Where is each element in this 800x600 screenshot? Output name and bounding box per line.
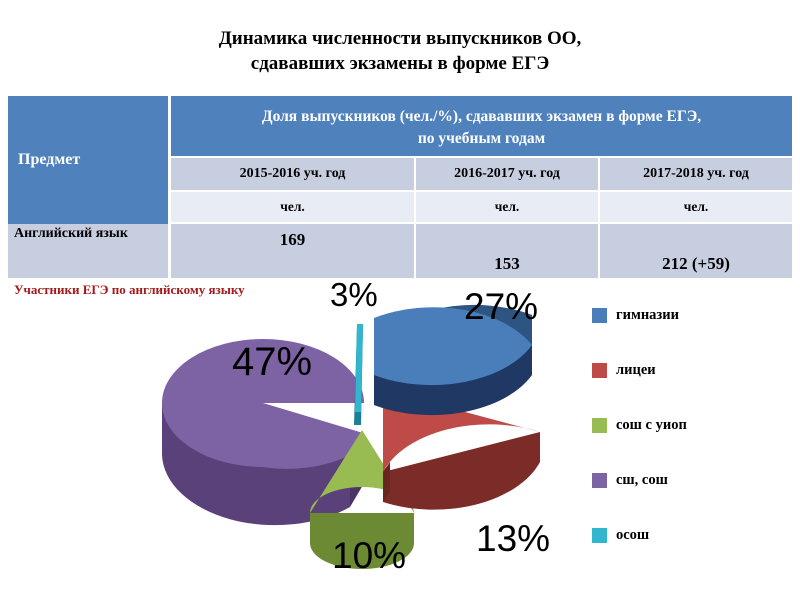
table-unit-cell-1: чел.	[171, 192, 414, 222]
pie-value-label-sh-sosh: 47%	[232, 342, 312, 382]
table-cell-value-2015-2016: 169	[171, 224, 414, 278]
legend-item-licei[interactable]: лицеи	[592, 343, 792, 398]
legend-label-sh-sosh: сш, сош	[616, 472, 668, 489]
slide-title: Динамика численности выпускников ОО, сда…	[0, 26, 800, 76]
pie-value-label-ososh: 3%	[330, 278, 378, 311]
legend-item-gimnazii[interactable]: гимназии	[592, 288, 792, 343]
exam-statistics-table: Предмет Доля выпускников (чел./%), сдава…	[8, 96, 792, 278]
legend-label-sosh-s-uiop: сош с уиоп	[616, 417, 687, 434]
slide-title-line-1: Динамика численности выпускников ОО,	[219, 28, 582, 49]
table-header-year-2016-2017: 2016-2017 уч. год	[416, 158, 598, 190]
legend-item-sh-sosh[interactable]: сш, сош	[592, 453, 792, 508]
table-cell-value-2017-2018: 212 (+59)	[600, 224, 792, 278]
table-header-year-2017-2018: 2017-2018 уч. год	[600, 158, 792, 190]
legend-swatch-sosh-s-uiop	[592, 418, 607, 433]
legend-label-ososh: осош	[616, 527, 649, 544]
table-header-span-line-2: по учебным годам	[418, 128, 545, 150]
pie-value-label-sosh-s-uiop: 10%	[332, 537, 406, 574]
legend-swatch-gimnazii	[592, 308, 607, 323]
legend-item-sosh-s-uiop[interactable]: сош с уиоп	[592, 398, 792, 453]
chart-legend: гимназии лицеи сош с уиоп сш, сош осош	[592, 288, 792, 563]
table-unit-cell-2: чел.	[416, 192, 598, 222]
pie-value-label-gimnazii: 27%	[464, 288, 538, 325]
slide-title-line-2: сдававших экзамены в форме ЕГЭ	[0, 51, 800, 76]
pie-chart: 27% 13% 10% 47% 3%	[150, 280, 580, 590]
legend-label-licei: лицеи	[616, 362, 656, 379]
legend-swatch-ososh	[592, 528, 607, 543]
table-cell-value-2016-2017: 153	[416, 224, 598, 278]
table-header-span: Доля выпускников (чел./%), сдававших экз…	[171, 96, 792, 156]
legend-swatch-sh-sosh	[592, 473, 607, 488]
pie-value-label-licei: 13%	[476, 520, 550, 557]
table-row-subject-label: Английский язык	[8, 224, 168, 278]
table-header-year-2015-2016: 2015-2016 уч. год	[171, 158, 414, 190]
table-header-span-line-1: Доля выпускников (чел./%), сдававших экз…	[262, 106, 701, 128]
table-unit-cell-3: чел.	[600, 192, 792, 222]
table-header-subject: Предмет	[8, 96, 168, 224]
legend-item-ososh[interactable]: осош	[592, 508, 792, 563]
legend-label-gimnazii: гимназии	[616, 307, 679, 324]
legend-swatch-licei	[592, 363, 607, 378]
